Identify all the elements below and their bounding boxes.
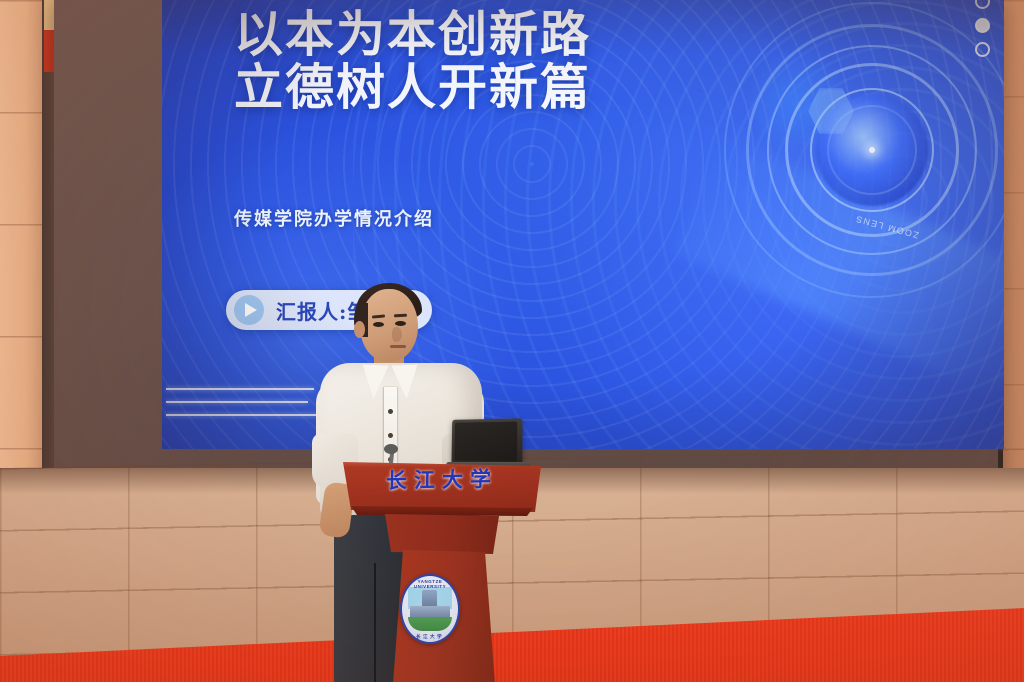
camera-lens-graphic: ZOOM LENS <box>722 0 1004 300</box>
nose <box>392 327 402 342</box>
university-emblem: YANGTZE UNIVERSITY 长江大学 <box>400 574 460 644</box>
slide-title-line-1: 以本为本创新路 <box>234 8 591 61</box>
podium-neck <box>377 514 507 554</box>
photo-scene: ZOOM LENS 以本为本创新路 立德树人开新篇 传媒学院办学情况介绍 汇报人… <box>0 0 1024 682</box>
play-triangle-icon <box>234 295 264 325</box>
emblem-arc-text: YANGTZE UNIVERSITY <box>402 579 458 589</box>
ear <box>354 321 365 338</box>
mouth <box>390 345 406 348</box>
left-pillar-tile-lines <box>0 0 44 500</box>
shirt-button-2 <box>388 433 393 438</box>
page-dot-1 <box>975 0 990 9</box>
emblem-river <box>408 617 452 631</box>
laptop-screen <box>454 422 517 462</box>
podium: 长江大学 YANGTZE UNIVERSITY 长江大学 <box>337 462 547 682</box>
slide-title: 以本为本创新路 立德树人开新篇 <box>234 8 591 114</box>
eye-right <box>395 321 406 326</box>
lens-center-flare <box>869 147 875 153</box>
led-screen-frame: ZOOM LENS 以本为本创新路 立德树人开新篇 传媒学院办学情况介绍 汇报人… <box>54 0 1003 495</box>
decorative-line-1 <box>166 388 314 390</box>
led-screen-panel: ZOOM LENS 以本为本创新路 立德树人开新篇 传媒学院办学情况介绍 汇报人… <box>162 0 1004 449</box>
eye-left <box>373 322 384 327</box>
slide-decorative-lines <box>166 388 326 427</box>
laptop-lid <box>451 418 522 465</box>
decorative-line-3 <box>166 414 318 416</box>
slide-subtitle: 传媒学院办学情况介绍 <box>234 205 434 231</box>
slide-page-dots <box>975 0 990 66</box>
shirt-button-1 <box>388 409 393 414</box>
slide-title-line-2: 立德树人开新篇 <box>234 61 591 114</box>
head <box>360 289 418 361</box>
page-dot-3 <box>975 42 990 57</box>
microphone-head <box>384 444 398 454</box>
decorative-line-2 <box>166 401 308 403</box>
podium-university-name: 长江大学 <box>337 462 547 496</box>
page-dot-2-active <box>975 18 990 33</box>
emblem-bottom-text: 长江大学 <box>402 634 458 640</box>
